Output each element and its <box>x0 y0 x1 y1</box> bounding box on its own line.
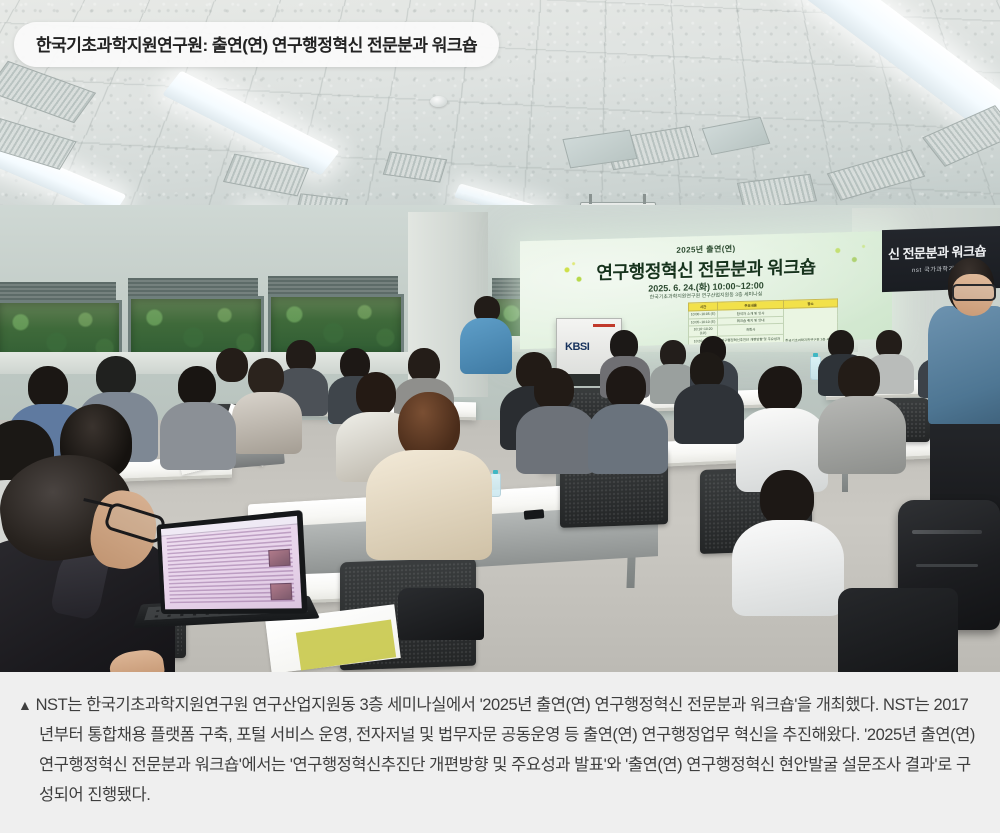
tablet-screen <box>157 510 308 614</box>
caption-body: NST는 한국기초과학지원연구원 연구산업지원동 3층 세미나실에서 '2025… <box>36 696 975 804</box>
smoke-detector-icon <box>430 96 447 107</box>
caption-paragraph: ▲ NST는 한국기초과학지원연구원 연구산업지원동 3층 세미나실에서 '20… <box>18 690 976 810</box>
laptop-bag <box>838 588 958 672</box>
thumbnail-image <box>270 583 293 600</box>
smartphone <box>524 509 545 520</box>
kbsi-logo: KBSI <box>565 341 589 353</box>
photo-title-badge: 한국기초과학지원연구원: 출연(연) 연구행정혁신 전문분과 워크숍 <box>14 22 499 67</box>
triangle-marker-icon: ▲ <box>18 697 31 713</box>
thumbnail-image <box>268 549 290 567</box>
eyeglasses-icon <box>952 284 996 301</box>
caption-block: ▲ NST는 한국기초과학지원연구원 연구산업지원동 3층 세미나실에서 '20… <box>0 672 1000 833</box>
handbag <box>398 588 484 640</box>
event-photo: 2025년 출연(연) 연구행정혁신 전문분과 워크숍 2025. 6. 24.… <box>0 0 1000 672</box>
presenter-torso <box>928 306 1000 424</box>
tablet-with-keyboard <box>137 514 313 641</box>
